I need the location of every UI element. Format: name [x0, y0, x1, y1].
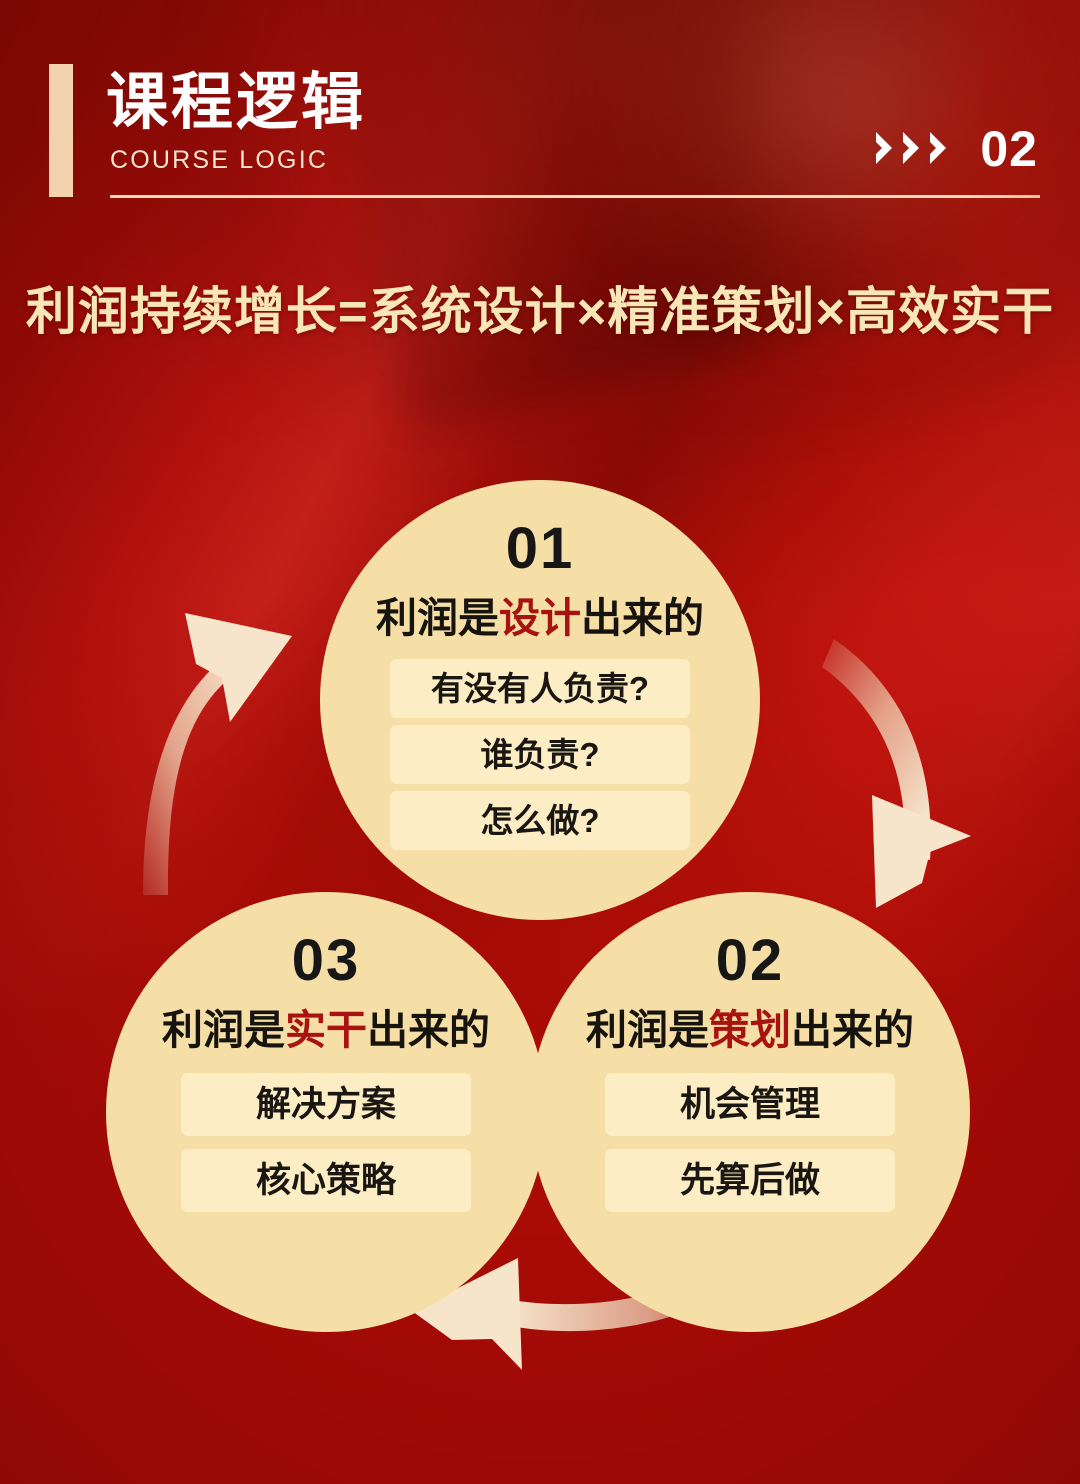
node-title-prefix: 利润是: [586, 1007, 709, 1053]
cycle-diagram: 01 利润是设计出来的 有没有人负责? 谁负责? 怎么做? 02 利润是策划出来…: [0, 440, 1080, 1440]
node-title: 利润是策划出来的: [586, 1010, 914, 1051]
node-tag[interactable]: 先算后做: [605, 1149, 895, 1212]
node-tag-list: 机会管理 先算后做: [530, 1073, 970, 1212]
cycle-node-03[interactable]: 03 利润是实干出来的 解决方案 核心策略: [106, 892, 546, 1332]
node-title-highlight: 实干: [285, 1007, 367, 1053]
cycle-node-01[interactable]: 01 利润是设计出来的 有没有人负责? 谁负责? 怎么做?: [320, 480, 760, 920]
cycle-node-02[interactable]: 02 利润是策划出来的 机会管理 先算后做: [530, 892, 970, 1332]
node-number: 03: [292, 932, 361, 990]
node-tag[interactable]: 机会管理: [605, 1073, 895, 1136]
chevron-right-triple-icon: [875, 131, 952, 165]
node-tag[interactable]: 怎么做?: [390, 791, 690, 850]
node-number: 01: [506, 520, 575, 578]
node-title: 利润是实干出来的: [162, 1010, 490, 1051]
node-title-prefix: 利润是: [162, 1007, 285, 1053]
node-number: 02: [716, 932, 785, 990]
node-title-highlight: 策划: [709, 1007, 791, 1053]
node-tag[interactable]: 解决方案: [181, 1073, 471, 1136]
headline-formula: 利润持续增长=系统设计×精准策划×高效实干: [0, 286, 1080, 337]
header-divider: [110, 195, 1040, 198]
arrow-01-to-02: [822, 639, 971, 908]
node-tag[interactable]: 核心策略: [181, 1149, 471, 1212]
section-number: 02: [980, 124, 1038, 174]
page-title: 课程逻辑: [106, 72, 366, 134]
node-tag-list: 解决方案 核心策略: [106, 1073, 546, 1212]
node-title-highlight: 设计: [499, 595, 581, 641]
header-accent-bar: [49, 64, 73, 197]
node-title: 利润是设计出来的: [376, 598, 704, 639]
poster-slide: 课程逻辑 COURSE LOGIC 02 利润持续增长=系统设计×精准策划×高效…: [0, 0, 1080, 1484]
arrow-03-to-01: [143, 613, 292, 895]
node-tag[interactable]: 有没有人负责?: [390, 659, 690, 718]
node-title-suffix: 出来的: [581, 595, 704, 641]
node-tag-list: 有没有人负责? 谁负责? 怎么做?: [320, 659, 760, 850]
node-title-prefix: 利润是: [376, 595, 499, 641]
node-title-suffix: 出来的: [367, 1007, 490, 1053]
node-title-suffix: 出来的: [791, 1007, 914, 1053]
page-subtitle: COURSE LOGIC: [110, 148, 328, 173]
node-tag[interactable]: 谁负责?: [390, 725, 690, 784]
